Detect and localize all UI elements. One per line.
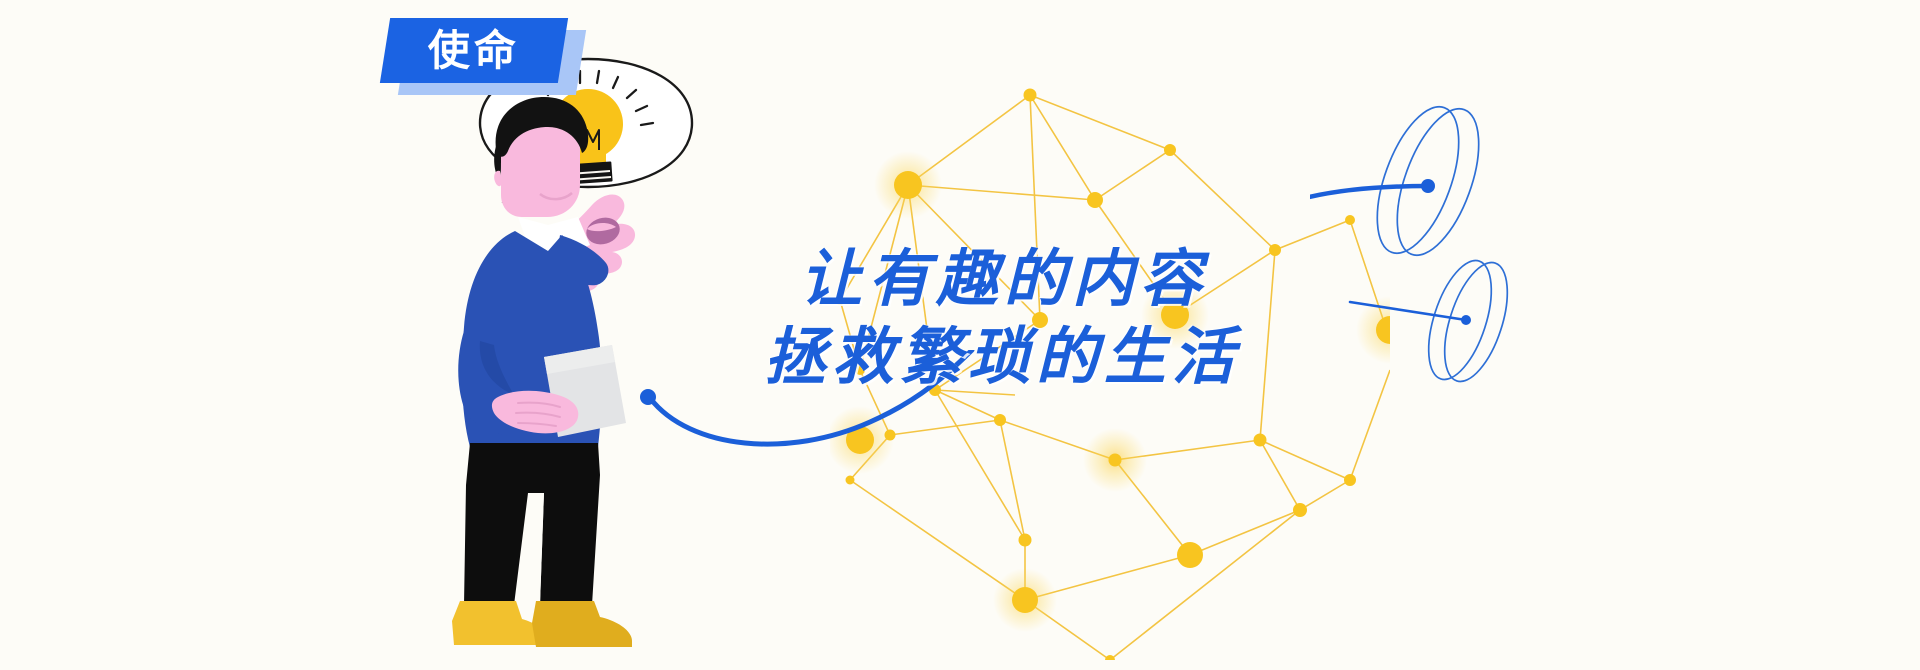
badge-body: 使命 [380,18,568,83]
orbit-rings [1310,90,1640,420]
mission-badge: 使命 [385,10,585,105]
head [494,97,588,217]
badge-label: 使命 [428,30,520,72]
pants [464,443,600,605]
mission-banner: 使命 让有趣的内容 拯救繁琐的生活 [0,0,1920,670]
pointing-man-illustration [440,45,770,670]
shoes [452,601,632,647]
